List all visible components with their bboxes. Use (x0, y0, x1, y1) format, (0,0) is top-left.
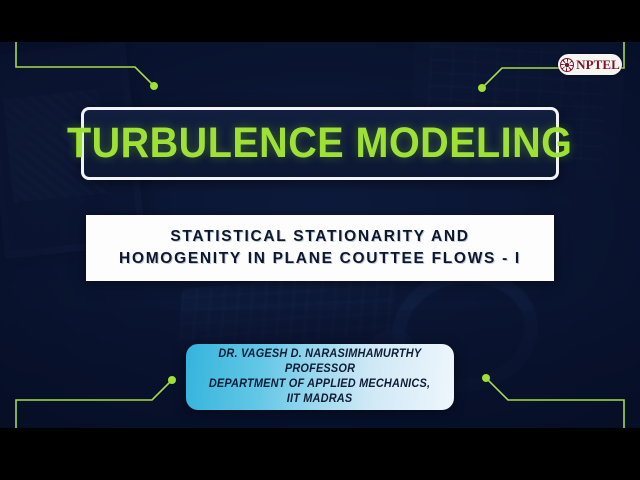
nptel-wheel-emblem-icon (560, 58, 574, 72)
lecture-subtitle-line-2: HOMOGENITY IN PLANE COUTTEE FLOWS - I (119, 251, 521, 268)
presenter-name: DR. VAGESH D. NARASIMHAMURTHY (218, 347, 421, 362)
presenter-institute: IIT MADRAS (287, 392, 353, 407)
course-title: TURBULENCE MODELING (67, 122, 572, 165)
lecture-subtitle-box: STATISTICAL STATIONARITY AND HOMOGENITY … (86, 215, 554, 281)
course-title-box: TURBULENCE MODELING (81, 107, 559, 180)
presenter-credit-box: DR. VAGESH D. NARASIMHAMURTHY PROFESSOR … (186, 344, 454, 410)
presenter-department: DEPARTMENT OF APPLIED MECHANICS, (209, 377, 430, 392)
lecture-subtitle-line-1: STATISTICAL STATIONARITY AND (170, 229, 469, 246)
lecture-title-slide: NPTEL TURBULENCE MODELING STATISTICAL ST… (0, 0, 640, 480)
nptel-wordmark: NPTEL (576, 58, 620, 71)
nptel-logo: NPTEL (558, 54, 622, 75)
letterbox-bottom-bar (0, 428, 640, 480)
presenter-title: PROFESSOR (285, 362, 355, 377)
letterbox-top-bar (0, 0, 640, 42)
